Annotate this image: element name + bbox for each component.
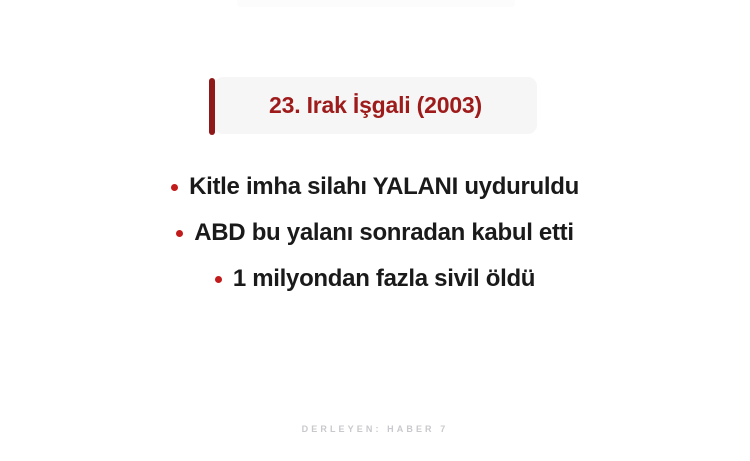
bullet-dot-icon — [176, 230, 183, 237]
list-item: Kitle imha silahı YALANI uyduruldu — [0, 164, 750, 210]
title-block: 23. Irak İşgali (2003) — [209, 77, 537, 134]
list-item: ABD bu yalanı sonradan kabul etti — [0, 210, 750, 256]
bullet-dot-icon — [171, 184, 178, 191]
bullet-dot-icon — [215, 276, 222, 283]
slide-title: 23. Irak İşgali (2003) — [214, 77, 537, 134]
bullet-text: Kitle imha silahı YALANI uyduruldu — [189, 175, 579, 199]
bullet-text: 1 milyondan fazla sivil öldü — [233, 267, 535, 291]
top-cropped-card-edge — [237, 0, 515, 7]
footer-credit: DERLEYEN: HABER 7 — [0, 424, 750, 434]
bullet-list: Kitle imha silahı YALANI uyduruldu ABD b… — [0, 164, 750, 302]
list-item: 1 milyondan fazla sivil öldü — [0, 256, 750, 302]
bullet-text: ABD bu yalanı sonradan kabul etti — [194, 221, 574, 245]
